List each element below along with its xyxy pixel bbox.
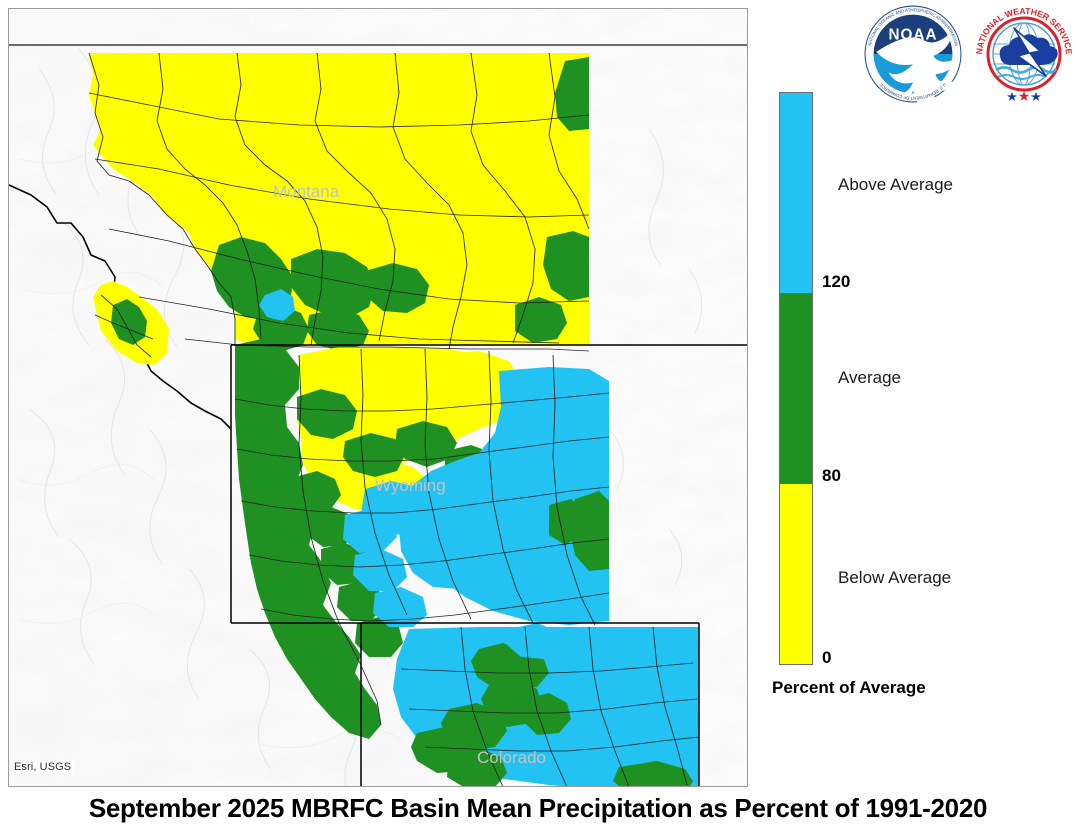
noaa-logo: NOAA NATIONAL OCEANIC AND ATMOSPHERIC AD… — [862, 2, 964, 106]
legend-label-average: Average — [838, 368, 901, 388]
state-label-montana: Montana — [273, 182, 340, 201]
state-label-colorado: Colorado — [477, 748, 546, 767]
legend-label-below-average: Below Average — [838, 568, 951, 588]
legend-band-above-average — [780, 93, 812, 293]
page-title: September 2025 MBRFC Basin Mean Precipit… — [0, 793, 1076, 824]
legend-label-above-average: Above Average — [838, 175, 953, 195]
legend-colorbar — [779, 92, 813, 665]
legend-band-average — [780, 293, 812, 484]
basin-precipitation-map: Montana Wyoming Colorado — [9, 9, 747, 786]
map-frame[interactable]: Montana Wyoming Colorado Esri, USGS — [8, 8, 748, 787]
legend-band-below-average — [780, 484, 812, 664]
map-attribution: Esri, USGS — [11, 760, 74, 774]
basin-polygons-colorado — [393, 623, 699, 786]
legend-tick-0: 0 — [822, 648, 831, 668]
agency-logos: NOAA NATIONAL OCEANIC AND ATMOSPHERIC AD… — [862, 2, 1074, 110]
legend-tick-120: 120 — [822, 272, 850, 292]
svg-text:NOAA: NOAA — [888, 27, 937, 44]
legend-tick-80: 80 — [822, 466, 841, 486]
legend-caption: Percent of Average — [772, 678, 926, 698]
state-label-wyoming: Wyoming — [375, 476, 446, 495]
map-canvas[interactable]: Montana Wyoming Colorado — [9, 9, 747, 786]
nws-logo: NATIONAL WEATHER SERVICE — [974, 2, 1074, 106]
